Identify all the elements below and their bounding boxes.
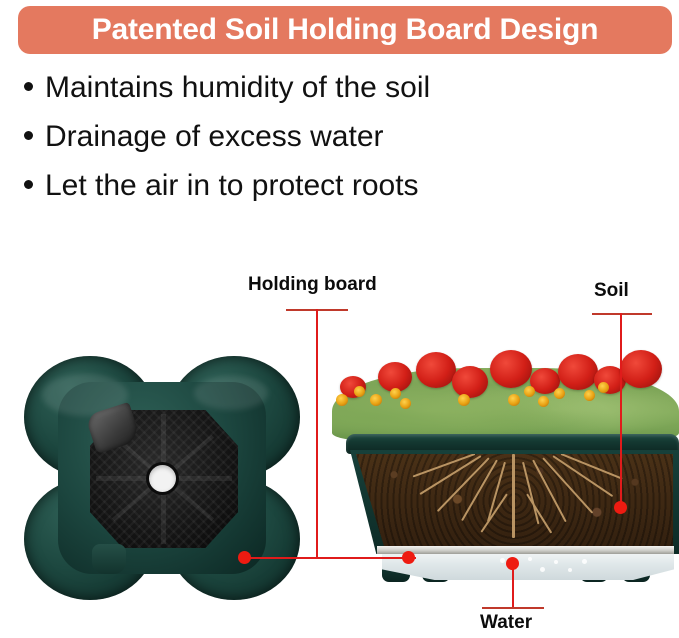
bullet-dot-icon: [24, 180, 33, 189]
holding-board-leader-horizontal: [244, 557, 416, 559]
yellow-bloom: [524, 386, 535, 397]
water-marker: [506, 557, 519, 570]
root-strand: [512, 454, 515, 538]
yellow-bloom: [554, 388, 565, 399]
header-banner: Patented Soil Holding Board Design: [18, 6, 672, 54]
holding-board-marker-left: [238, 551, 251, 564]
red-bloom: [620, 350, 662, 388]
bullet-dot-icon: [24, 131, 33, 140]
water-sparkle: [540, 567, 545, 572]
soil-leader-vertical: [620, 313, 622, 509]
yellow-bloom: [538, 396, 549, 407]
yellow-bloom: [584, 390, 595, 401]
water-sparkle: [528, 557, 532, 561]
callout-label-holding-board: Holding board: [248, 274, 377, 296]
water-reservoir: [382, 552, 674, 580]
list-item: Let the air in to protect roots: [24, 166, 644, 206]
board-drainage-hole: [149, 465, 176, 492]
yellow-bloom: [354, 386, 365, 397]
yellow-bloom: [458, 394, 470, 406]
red-bloom: [416, 352, 456, 388]
list-item: Maintains humidity of the soil: [24, 68, 644, 108]
feature-text: Maintains humidity of the soil: [45, 68, 430, 108]
yellow-bloom: [370, 394, 382, 406]
board-highlight-left: [42, 374, 128, 416]
flower-bed: [332, 332, 679, 440]
soil-leader-tbar: [592, 313, 652, 315]
callout-label-soil: Soil: [594, 280, 629, 302]
yellow-bloom: [390, 388, 401, 399]
feature-text: Let the air in to protect roots: [45, 166, 419, 206]
red-bloom: [490, 350, 532, 388]
page-title: Patented Soil Holding Board Design: [92, 15, 599, 45]
board-highlight-right: [194, 376, 268, 410]
holding-board-leader-vertical: [316, 309, 318, 559]
holding-board-marker-right: [402, 551, 415, 564]
soil-marker: [614, 501, 627, 514]
yellow-bloom: [508, 394, 520, 406]
root-strand: [526, 493, 552, 533]
callout-label-water: Water: [480, 612, 532, 634]
root-system: [356, 454, 673, 548]
water-sparkle: [568, 568, 572, 572]
red-bloom: [452, 366, 488, 398]
soil-holding-board-photo: [18, 352, 308, 604]
water-sparkle: [554, 560, 558, 564]
holding-board-layer: [377, 546, 674, 554]
planter-cross-section-photo: [330, 330, 679, 590]
board-water-cup: [92, 544, 126, 574]
water-sparkle: [500, 558, 505, 563]
feature-text: Drainage of excess water: [45, 117, 384, 157]
water-leader-tbar: [482, 607, 544, 609]
list-item: Drainage of excess water: [24, 117, 644, 157]
yellow-bloom: [598, 382, 609, 393]
water-sparkle: [582, 559, 587, 564]
yellow-bloom: [400, 398, 411, 409]
yellow-bloom: [336, 394, 348, 406]
feature-list: Maintains humidity of the soil Drainage …: [24, 68, 644, 215]
bullet-dot-icon: [24, 82, 33, 91]
red-bloom: [558, 354, 598, 390]
